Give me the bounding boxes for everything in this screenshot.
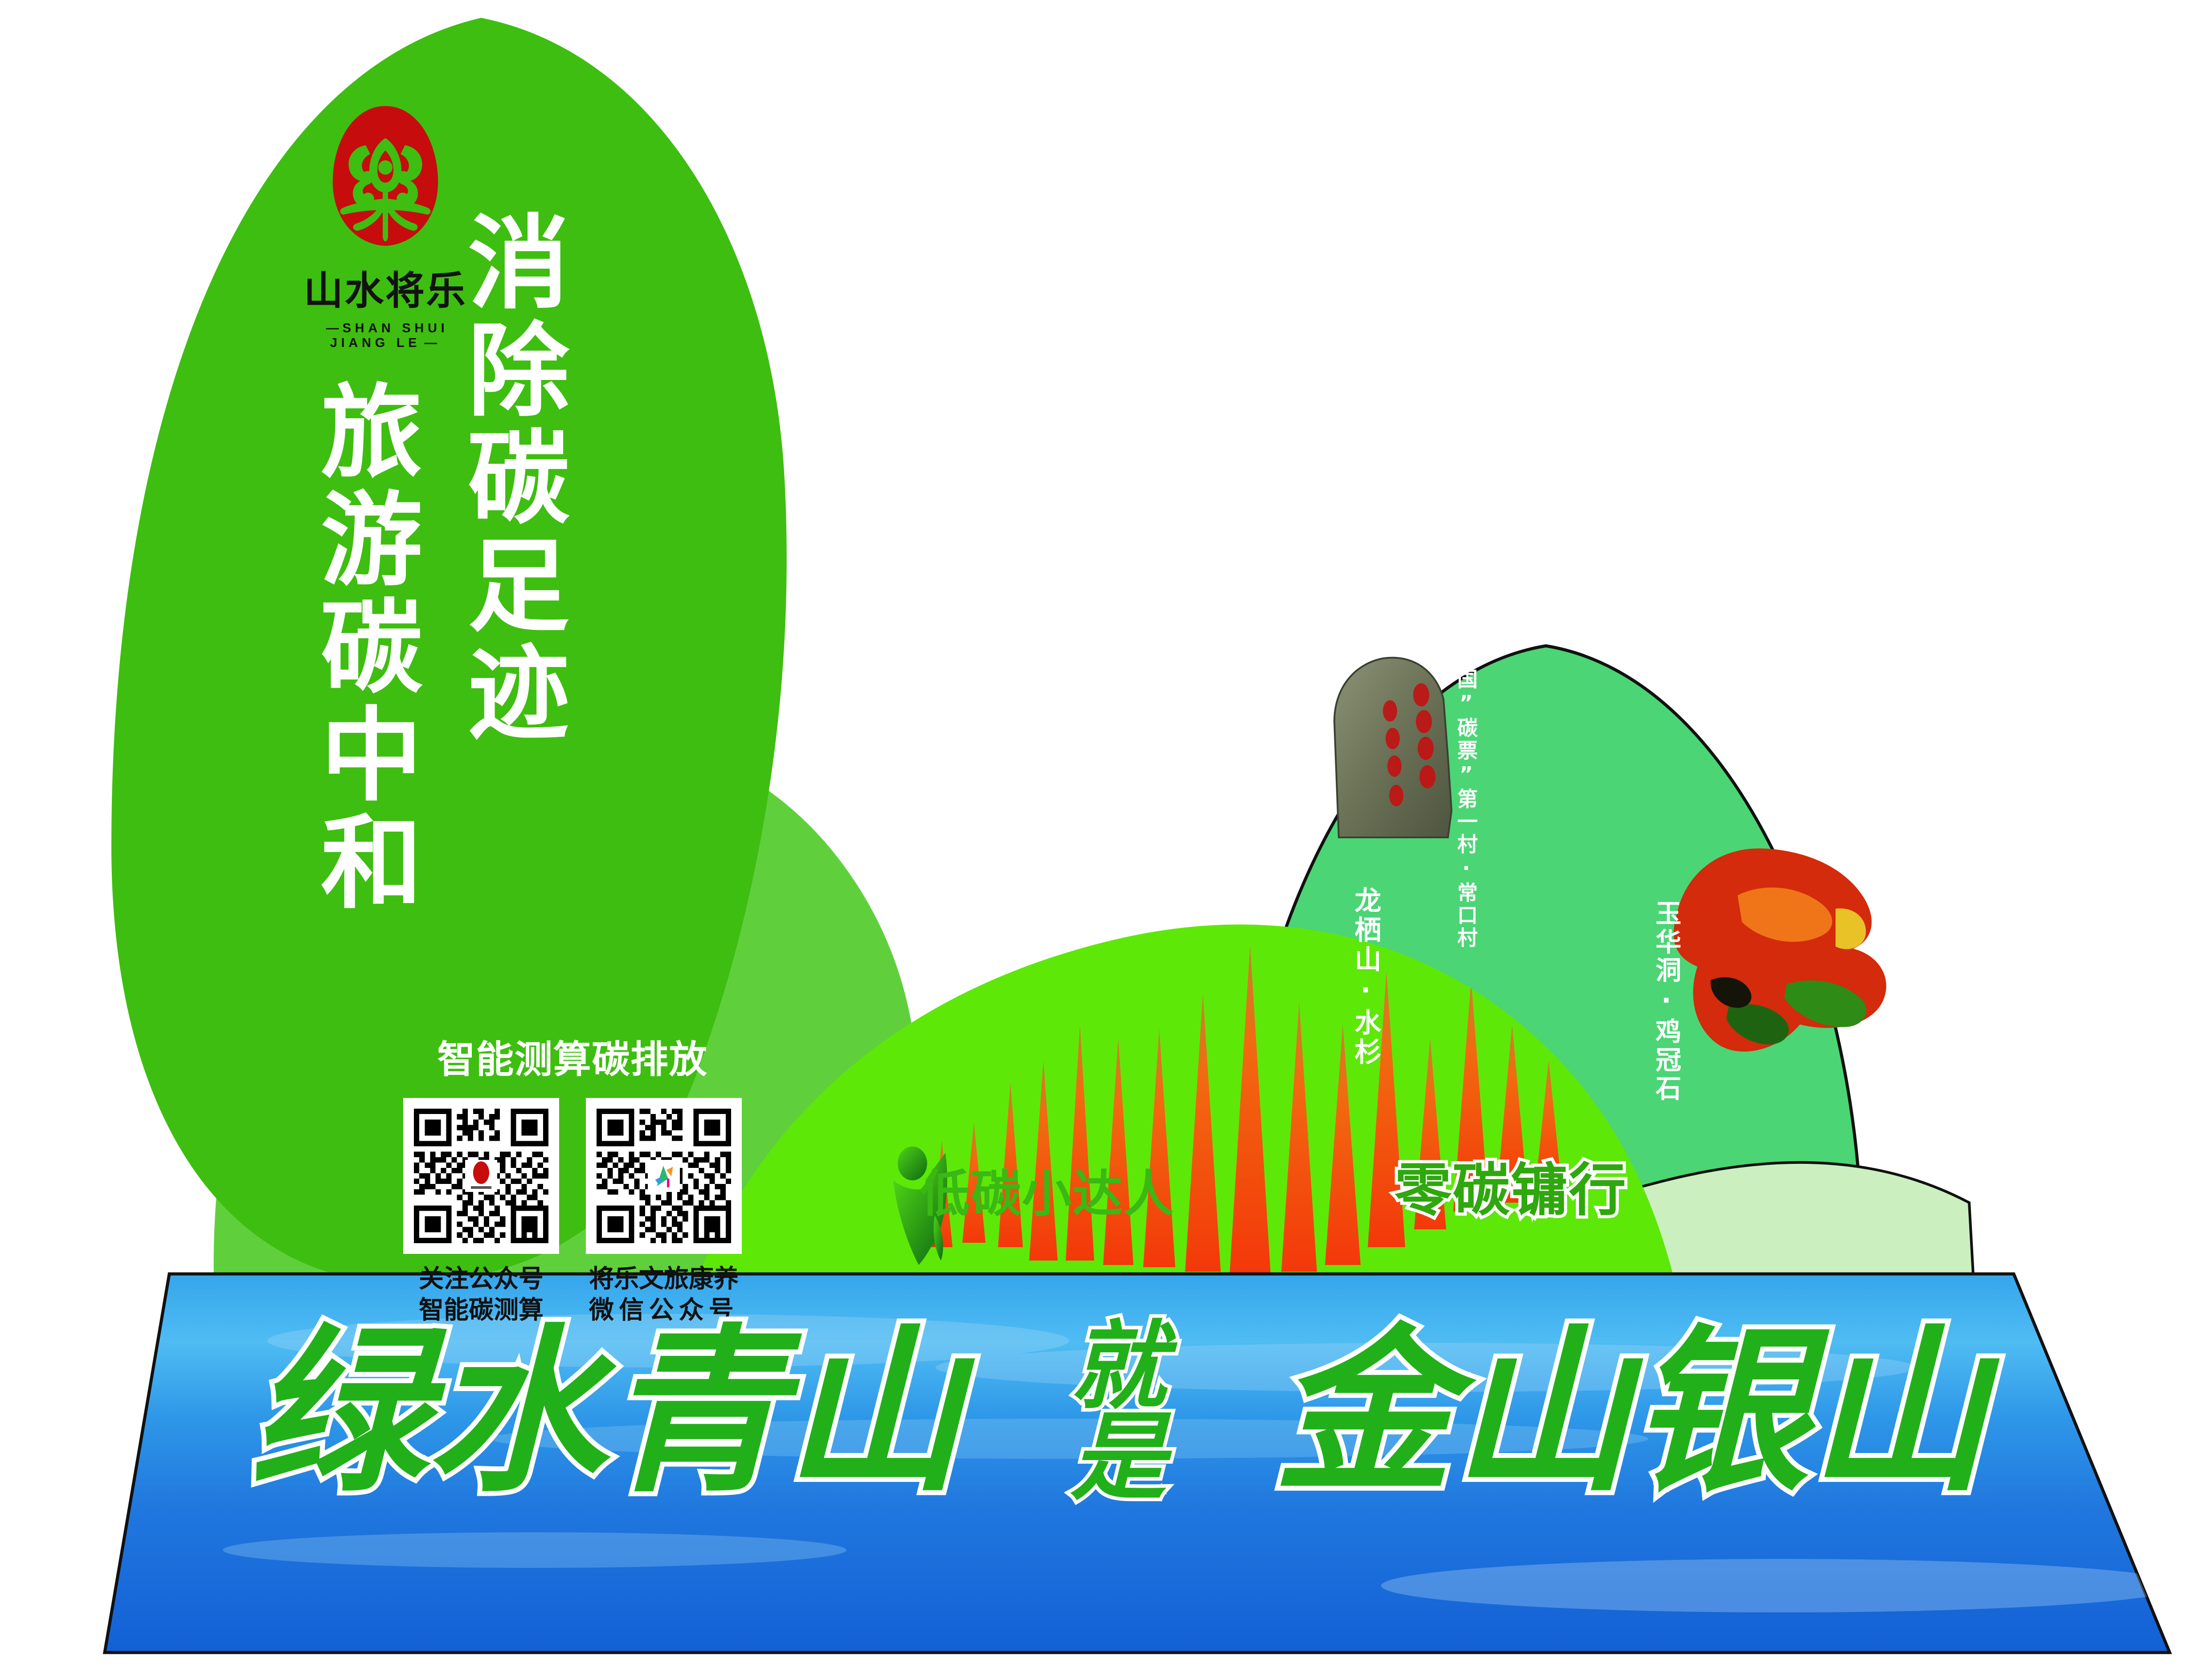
slogan-part-1: 绿水青山 [249, 1322, 962, 1501]
headline-column-right: 消除碳足迹 [459, 209, 560, 747]
landmark-label-yuhuadong: 玉华洞·鸡冠石 [1648, 900, 1685, 1103]
headline-column-left: 旅游碳中和 [312, 379, 413, 917]
zero-carbon-badge-label: 零碳镛行 [1394, 1144, 1627, 1226]
qr-code-icon[interactable] [586, 1098, 742, 1254]
cockscomb-rock-icon [1674, 849, 1886, 1052]
qr-caption-1-line1: 关注公众号 [403, 1264, 559, 1295]
poster-canvas: 山水将乐 SHAN SHUI JIANG LE 消除碳足迹 旅游碳中和 智能测算… [0, 0, 2212, 1669]
slogan-connector-top: 就 [1071, 1321, 1166, 1412]
qr-cell-wenlv-wechat[interactable]: 将乐文旅康养 微信公众号 [586, 1098, 742, 1326]
stone-monument-icon [1334, 658, 1451, 837]
qr-panel: 智能测算碳排放 [403, 1029, 742, 1326]
shanshui-jiangle-seal-logo [327, 102, 443, 249]
landmark-label-longqishan: 龙栖山·水杉 [1346, 886, 1385, 1067]
landmark-label-changkou: 中国”碳票”第一村·常口村 [1451, 646, 1481, 950]
qr-cell-carbon-calculator[interactable]: 关注公众号 智能碳测算 [403, 1098, 559, 1326]
qr-caption-2-line1: 将乐文旅康养 [586, 1264, 742, 1295]
low-carbon-badge: 低碳小达人 [920, 1154, 1174, 1226]
main-slogan: 绿水青山 就 是 金山银山 [249, 1321, 1987, 1503]
low-carbon-badge-label: 低碳小达人 [920, 1154, 1174, 1226]
slogan-part-2: 金山银山 [1274, 1322, 1987, 1501]
qr-code-icon[interactable] [403, 1098, 559, 1254]
slogan-connector: 就 是 [1071, 1321, 1166, 1503]
slogan-connector-bottom: 是 [1071, 1412, 1166, 1502]
qr-panel-heading: 智能测算碳排放 [403, 1029, 742, 1084]
